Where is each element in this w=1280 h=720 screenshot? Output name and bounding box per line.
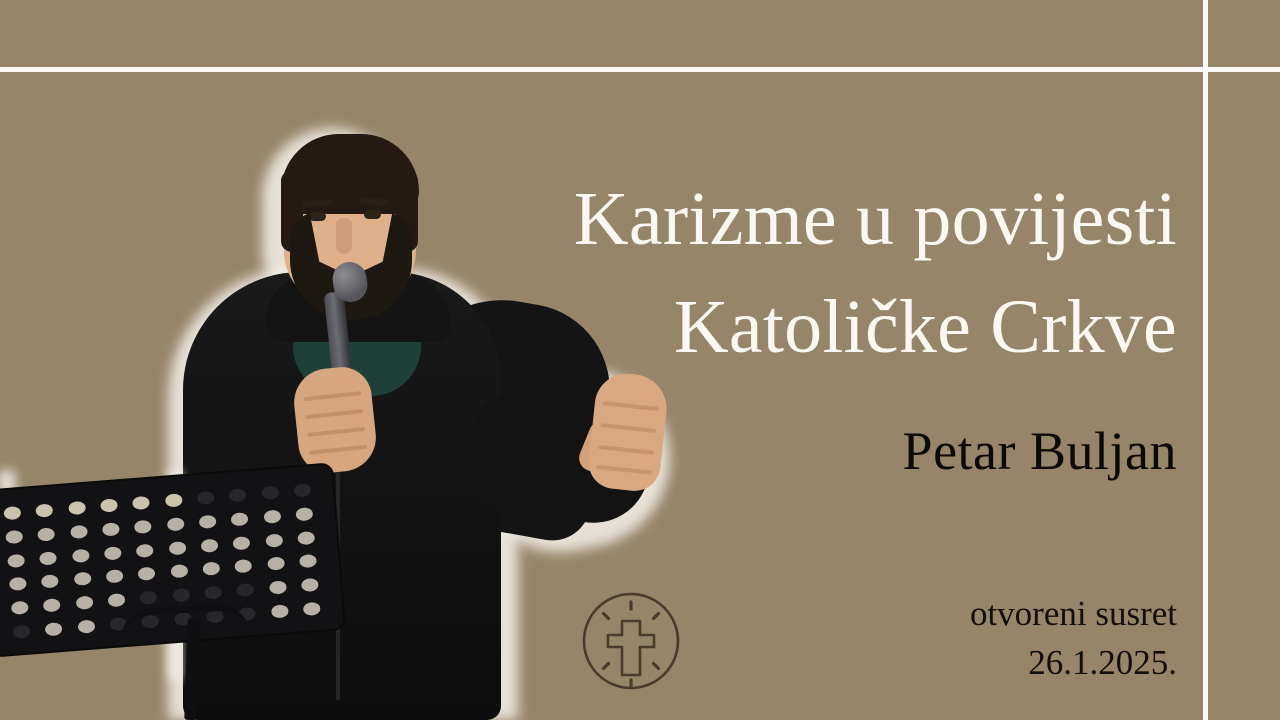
speaker-nose — [336, 218, 352, 254]
page-title: Karizme u povijesti Katoličke Crkve — [417, 166, 1177, 382]
speaker-hand-holding-mic — [291, 364, 379, 476]
speaker-name: Petar Buljan — [477, 420, 1177, 482]
speaker-eyebrow-right — [358, 197, 388, 206]
speaker-eye-right — [364, 210, 381, 219]
event-type: otvoreni susret — [577, 589, 1177, 639]
speaker-eye-left — [309, 212, 326, 221]
event-date: 26.1.2025. — [577, 638, 1177, 688]
presentation-slide: Karizme u povijesti Katoličke Crkve Peta… — [0, 0, 1280, 720]
event-meta: otvoreni susret 26.1.2025. — [577, 589, 1177, 688]
vertical-rule — [1203, 0, 1208, 720]
title-line-1: Karizme u povijesti — [417, 166, 1177, 274]
title-line-2: Katoličke Crkve — [417, 274, 1177, 382]
